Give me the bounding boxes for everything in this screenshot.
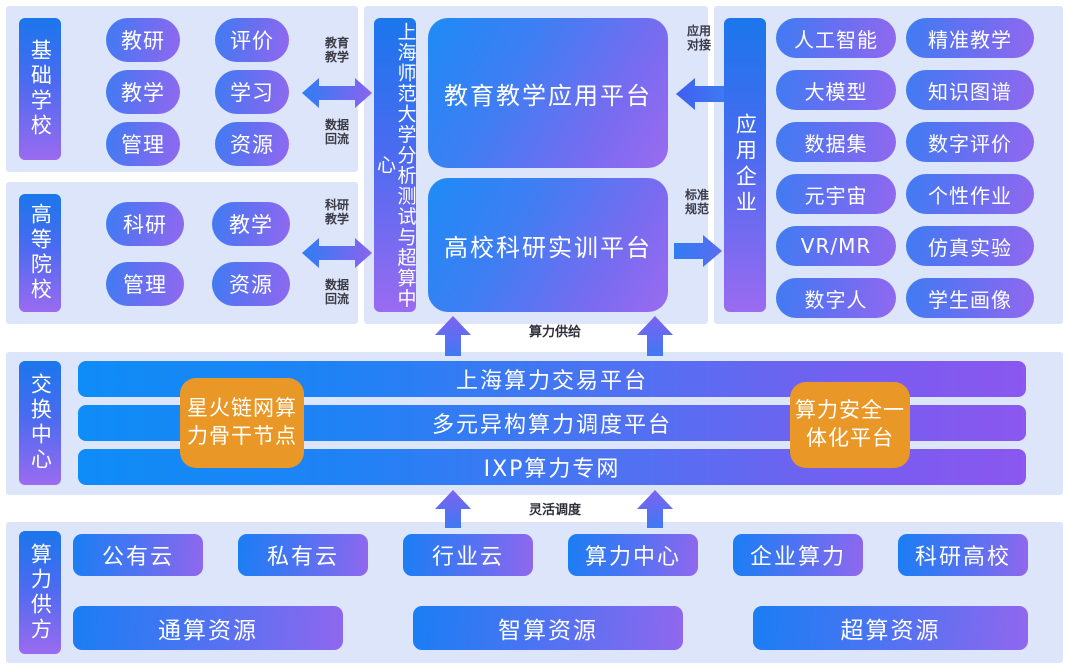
pill-enterprise-student-profile[interactable]: 学生画像 xyxy=(906,278,1034,318)
pill-basic-jiaoxue[interactable]: 教学 xyxy=(106,70,180,114)
provider-public-cloud[interactable]: 公有云 xyxy=(73,534,203,576)
connector-label-flexible-scheduling: 灵活调度 xyxy=(480,503,630,518)
provider-research-university[interactable]: 科研高校 xyxy=(898,534,1028,576)
pill-basic-ziyuan[interactable]: 资源 xyxy=(215,122,289,166)
sidebar-label-higher-education-text: 高等院校 xyxy=(29,203,52,303)
sidebar-label-higher-education[interactable]: 高等院校 xyxy=(19,194,61,312)
provider-compute-center[interactable]: 算力中心 xyxy=(568,534,698,576)
connector-label-higher-top: 科研 教学 xyxy=(305,198,369,226)
connector-label-standard-specification: 标准 规范 xyxy=(674,188,720,216)
pill-basic-jiaoyan[interactable]: 教研 xyxy=(106,18,180,62)
pill-enterprise-precision-teaching[interactable]: 精准教学 xyxy=(906,18,1034,58)
pill-enterprise-ai[interactable]: 人工智能 xyxy=(776,18,896,58)
pill-enterprise-metaverse[interactable]: 元宇宙 xyxy=(776,174,896,214)
pill-enterprise-digital-human[interactable]: 数字人 xyxy=(776,278,896,318)
pill-enterprise-vrmr[interactable]: VR/MR xyxy=(776,226,896,266)
pill-higher-ziyuan[interactable]: 资源 xyxy=(212,262,290,306)
pill-higher-jiaoxue[interactable]: 教学 xyxy=(212,202,290,246)
connector-label-compute-supply: 算力供给 xyxy=(480,325,630,340)
pill-enterprise-dataset[interactable]: 数据集 xyxy=(776,122,896,162)
connector-label-basic-top: 教育 教学 xyxy=(305,36,369,64)
resource-super-compute[interactable]: 超算资源 xyxy=(753,606,1028,650)
connector-label-higher-bottom: 数据 回流 xyxy=(305,278,369,306)
sidebar-label-enterprise[interactable]: 应用企业 xyxy=(724,18,766,312)
pill-basic-xuexi[interactable]: 学习 xyxy=(215,70,289,114)
pill-basic-pingjia[interactable]: 评价 xyxy=(215,18,289,62)
arrow-application-docking-left xyxy=(676,75,724,113)
sidebar-label-compute-supply-text: 算力供方 xyxy=(29,543,52,643)
provider-industry-cloud[interactable]: 行业云 xyxy=(403,534,533,576)
sidebar-label-basic-school[interactable]: 基础学校 xyxy=(19,18,61,160)
arrow-higher-education-bidirectional xyxy=(302,234,372,272)
platform-research-training[interactable]: 高校科研实训平台 xyxy=(428,178,668,312)
connector-label-basic-bottom: 数据 回流 xyxy=(305,118,369,146)
arrow-flexible-scheduling-left xyxy=(434,490,472,528)
pill-enterprise-llm[interactable]: 大模型 xyxy=(776,70,896,110)
arrow-flexible-scheduling-right xyxy=(636,490,674,528)
sidebar-label-exchange-center-text: 交换中心 xyxy=(29,373,52,473)
connector-label-application-docking: 应用 对接 xyxy=(676,24,722,52)
sidebar-label-center-text: 上海师范大学分析测试与超算中心 xyxy=(374,20,415,310)
arrow-compute-supply-left xyxy=(434,316,472,356)
feature-box-security-platform[interactable]: 算力安全一体化平台 xyxy=(790,382,910,468)
pill-enterprise-simulation-experiment[interactable]: 仿真实验 xyxy=(906,226,1034,266)
resource-general-compute[interactable]: 通算资源 xyxy=(73,606,343,650)
pill-enterprise-knowledge-graph[interactable]: 知识图谱 xyxy=(906,70,1034,110)
arrow-standard-specification-right xyxy=(674,232,722,270)
sidebar-label-center[interactable]: 上海师范大学分析测试与超算中心 xyxy=(374,18,416,312)
sidebar-label-compute-supply[interactable]: 算力供方 xyxy=(19,531,61,654)
feature-box-spark-chain-node[interactable]: 星火链网算力骨干节点 xyxy=(180,378,304,468)
arrow-compute-supply-right xyxy=(636,316,674,356)
pill-enterprise-digital-evaluation[interactable]: 数字评价 xyxy=(906,122,1034,162)
sidebar-label-enterprise-text: 应用企业 xyxy=(734,113,757,217)
arrow-basic-school-bidirectional xyxy=(302,74,372,112)
resource-intelligent-compute[interactable]: 智算资源 xyxy=(413,606,683,650)
platform-education-teaching[interactable]: 教育教学应用平台 xyxy=(428,18,668,168)
sidebar-label-exchange-center[interactable]: 交换中心 xyxy=(19,361,61,485)
pill-basic-guanli[interactable]: 管理 xyxy=(106,122,180,166)
pill-higher-guanli[interactable]: 管理 xyxy=(106,262,184,306)
provider-enterprise-compute[interactable]: 企业算力 xyxy=(733,534,863,576)
architecture-diagram: 基础学校 教研 评价 教学 学习 管理 资源 教育 教学 数据 回流 高等院校 … xyxy=(0,0,1069,669)
sidebar-label-basic-school-text: 基础学校 xyxy=(29,39,52,139)
pill-higher-keyan[interactable]: 科研 xyxy=(106,202,184,246)
pill-enterprise-personalized-homework[interactable]: 个性作业 xyxy=(906,174,1034,214)
provider-private-cloud[interactable]: 私有云 xyxy=(238,534,368,576)
